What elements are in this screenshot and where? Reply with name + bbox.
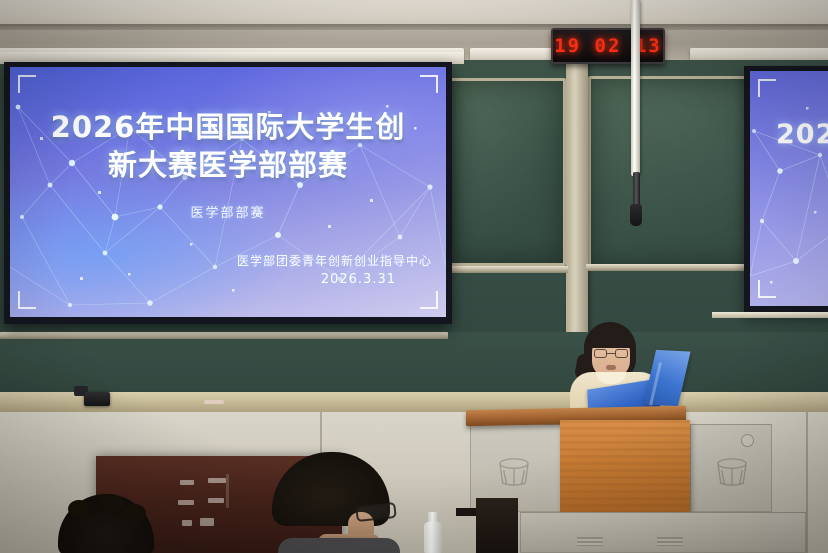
slide-footer: 医学部团委青年创新创业指导中心 2026.3.31 xyxy=(237,252,432,287)
waste-bin-icon xyxy=(713,457,751,487)
bottle-body xyxy=(424,522,442,553)
desk-highlight xyxy=(178,500,194,505)
presenter xyxy=(566,322,666,418)
chalk-tray-ledge xyxy=(0,392,828,414)
desk-highlight xyxy=(226,474,229,508)
hair-curl xyxy=(124,504,146,522)
slide-corner-bracket-top-right xyxy=(420,75,438,93)
network-constellation-graphic-secondary xyxy=(750,71,828,306)
desk-highlight xyxy=(200,518,214,526)
hair-curl xyxy=(68,500,90,518)
glasses-bridge xyxy=(607,353,615,354)
hair-curl xyxy=(98,494,124,514)
slide-corner-bracket-bottom-left xyxy=(18,291,36,309)
desk-highlight xyxy=(182,520,192,526)
chalk-rail xyxy=(446,266,568,273)
remote-control-device xyxy=(84,392,110,406)
audience-shoulder xyxy=(278,538,400,553)
slide-organizer: 医学部团委青年创新创业指导中心 xyxy=(237,252,432,269)
presentation-slide: 2026年中国国际大学生创 新大赛医学部部赛 医学部部赛 医学部团委青年创新创业… xyxy=(10,67,446,317)
slide-corner-bracket-bottom-right xyxy=(420,291,438,309)
podium-wooden-front xyxy=(560,420,690,512)
slide-title-line-1: 2026年中国国际大学生创 xyxy=(26,109,430,147)
slide-title-line-2: 新大赛医学部部赛 xyxy=(26,147,430,185)
chalk-rail xyxy=(0,332,448,339)
presenter-mouth xyxy=(606,365,616,370)
panel-knob[interactable] xyxy=(741,434,754,447)
water-bottle xyxy=(424,512,442,553)
lecture-hall-photo: 19 02 13 xyxy=(0,0,828,553)
microphone-pole-lower xyxy=(633,172,640,208)
waste-bin-icon xyxy=(495,457,533,487)
glasses-lens-right xyxy=(615,349,628,358)
clock-digits: 19 02 13 xyxy=(554,35,662,57)
wall-seam xyxy=(806,412,808,553)
microphone-head xyxy=(630,204,642,226)
chalk-rail-under-secondary-screen xyxy=(712,312,828,318)
presenter-fringe xyxy=(588,328,634,348)
secondary-slide-corner-bracket-top-left xyxy=(758,79,776,97)
podium-base-cabinet xyxy=(520,512,806,553)
chalk-piece xyxy=(204,400,224,404)
secondary-slide-corner-bracket-bottom-left xyxy=(758,280,776,298)
secondary-slide-title: 202 xyxy=(776,119,828,150)
projection-screen-secondary: 202 xyxy=(744,66,828,312)
cabinet-vent xyxy=(657,537,683,546)
audience-member-left xyxy=(58,494,154,553)
projection-screen-main: 2026年中国国际大学生创 新大赛医学部部赛 医学部部赛 医学部团委青年创新创业… xyxy=(4,62,452,324)
slide-subtitle: 医学部部赛 xyxy=(10,202,446,221)
slide-date: 2026.3.31 xyxy=(237,272,396,287)
cabinet-vent xyxy=(577,537,603,546)
chalkboard-panel-left xyxy=(448,78,566,266)
presenter-glasses xyxy=(594,349,628,358)
foreground-chair xyxy=(476,498,518,553)
desk-highlight xyxy=(208,478,226,483)
slide-title: 2026年中国国际大学生创 新大赛医学部部赛 xyxy=(10,109,446,184)
slide-corner-bracket-top-left xyxy=(18,75,36,93)
audience-glasses xyxy=(355,502,396,522)
desk-highlight xyxy=(180,480,194,485)
led-wall-clock: 19 02 13 xyxy=(551,28,665,64)
microphone-pole-upper xyxy=(631,0,640,176)
stage-panel-right xyxy=(690,424,772,512)
audience-member-right xyxy=(272,452,400,553)
desk-highlight xyxy=(208,498,224,503)
glasses-lens-left xyxy=(594,349,607,358)
secondary-slide: 202 xyxy=(750,71,828,306)
